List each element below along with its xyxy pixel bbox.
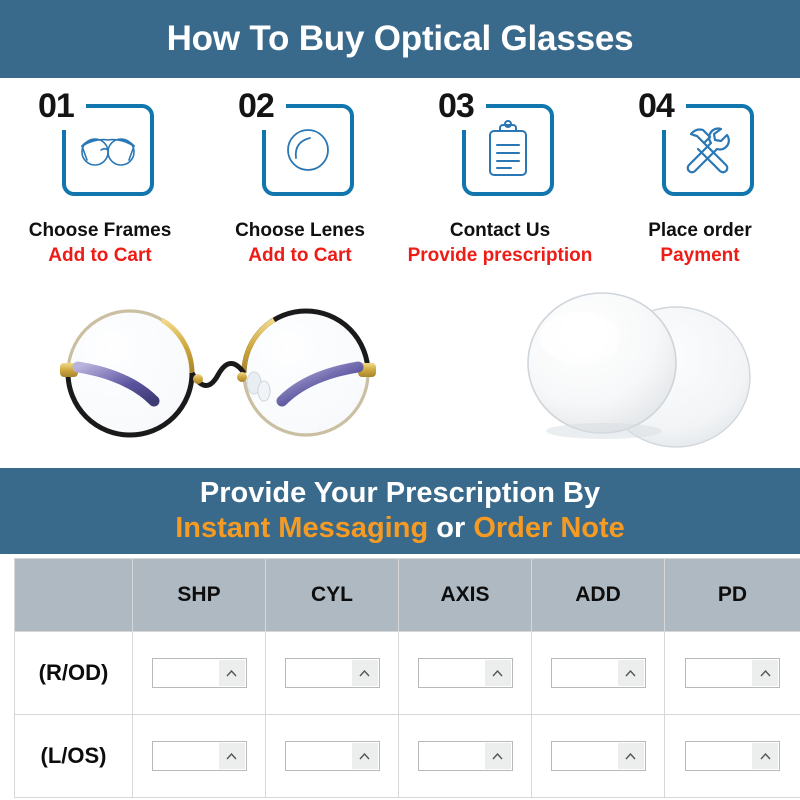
step-number-04: 04: [636, 88, 676, 124]
prescription-table-container: SHP CYL AXIS ADD PD (R/OD): [14, 558, 800, 800]
cell-right-axis[interactable]: [399, 632, 532, 715]
chevron-up-icon[interactable]: [352, 660, 378, 686]
step-number-02: 02: [236, 88, 276, 124]
column-header-pd: PD: [665, 559, 800, 632]
chevron-up-icon[interactable]: [618, 660, 644, 686]
step-number-03: 03: [436, 88, 476, 124]
column-header-cyl: CYL: [266, 559, 399, 632]
prescription-method-instant-messaging: Instant Messaging: [175, 512, 428, 544]
prescription-banner-joiner: or: [428, 512, 473, 544]
cell-right-cyl[interactable]: [266, 632, 399, 715]
select-right-cyl[interactable]: [285, 658, 380, 688]
step-subtitle-01: Add to Cart: [29, 245, 172, 267]
select-right-shp[interactable]: [152, 658, 247, 688]
cell-left-cyl[interactable]: [266, 715, 399, 798]
step-subtitle-03: Provide prescription: [408, 245, 593, 267]
column-header-axis: AXIS: [399, 559, 532, 632]
prescription-table: SHP CYL AXIS ADD PD (R/OD): [14, 558, 800, 798]
chevron-up-icon[interactable]: [352, 743, 378, 769]
step-title-01: Choose Frames: [29, 220, 172, 242]
step-subtitle-02: Add to Cart: [235, 245, 365, 267]
prescription-banner-line1: Provide Your Prescription By: [200, 476, 600, 510]
select-left-shp[interactable]: [152, 741, 247, 771]
prescription-method-order-note: Order Note: [473, 512, 624, 544]
cell-right-pd[interactable]: [665, 632, 800, 715]
select-left-axis[interactable]: [418, 741, 513, 771]
steps-row: 01 Choose Frames Add to Cart: [0, 78, 800, 283]
page-title: How To Buy Optical Glasses: [167, 19, 634, 59]
cell-right-shp[interactable]: [133, 632, 266, 715]
select-right-axis[interactable]: [418, 658, 513, 688]
column-header-add: ADD: [532, 559, 665, 632]
step-title-02: Choose Lenes: [235, 220, 365, 242]
select-right-add[interactable]: [551, 658, 646, 688]
prescription-table-body: (R/OD): [15, 632, 800, 798]
step-number-01: 01: [36, 88, 76, 124]
cell-left-axis[interactable]: [399, 715, 532, 798]
step-labels-03: Contact Us Provide prescription: [408, 220, 593, 267]
cell-left-shp[interactable]: [133, 715, 266, 798]
prescription-banner: Provide Your Prescription By Instant Mes…: [0, 468, 800, 554]
step-labels-02: Choose Lenes Add to Cart: [235, 220, 365, 267]
row-label-right-eye: (R/OD): [15, 632, 133, 715]
select-right-pd[interactable]: [685, 658, 780, 688]
select-left-pd[interactable]: [685, 741, 780, 771]
cell-right-add[interactable]: [532, 632, 665, 715]
product-imagery-row: +: [0, 283, 800, 468]
column-header-shp: SHP: [133, 559, 266, 632]
optical-lenses-product-image: [480, 285, 790, 463]
table-header-row: SHP CYL AXIS ADD PD: [15, 559, 800, 632]
step-labels-01: Choose Frames Add to Cart: [29, 220, 172, 267]
cell-left-pd[interactable]: [665, 715, 800, 798]
chevron-up-icon[interactable]: [219, 743, 245, 769]
chevron-up-icon[interactable]: [485, 660, 511, 686]
chevron-up-icon[interactable]: [752, 660, 778, 686]
prescription-banner-line2: Instant Messaging or Order Note: [175, 510, 625, 546]
step-graphic-01: 01: [34, 90, 166, 210]
eyeglasses-product-image: [18, 291, 418, 457]
step-item-04: 04 Place order Payment: [600, 78, 800, 283]
step-graphic-03: 03: [434, 90, 566, 210]
chevron-up-icon[interactable]: [219, 660, 245, 686]
step-graphic-04: 04: [634, 90, 766, 210]
step-subtitle-04: Payment: [648, 245, 752, 267]
chevron-up-icon[interactable]: [618, 743, 644, 769]
step-item-03: 03 Contact Us Provide prescription: [400, 78, 600, 283]
select-left-add[interactable]: [551, 741, 646, 771]
step-graphic-02: 02: [234, 90, 366, 210]
select-left-cyl[interactable]: [285, 741, 380, 771]
prescription-table-head: SHP CYL AXIS ADD PD: [15, 559, 800, 632]
step-labels-04: Place order Payment: [648, 220, 752, 267]
row-label-left-eye: (L/OS): [15, 715, 133, 798]
step-item-02: 02 Choose Lenes Add to Cart: [200, 78, 400, 283]
chevron-up-icon[interactable]: [485, 743, 511, 769]
step-item-01: 01 Choose Frames Add to Cart: [0, 78, 200, 283]
page-header-banner: How To Buy Optical Glasses: [0, 0, 800, 78]
chevron-up-icon[interactable]: [752, 743, 778, 769]
cell-left-add[interactable]: [532, 715, 665, 798]
table-row: (R/OD): [15, 632, 800, 715]
table-row: (L/OS): [15, 715, 800, 798]
step-title-03: Contact Us: [408, 220, 593, 242]
table-corner-cell: [15, 559, 133, 632]
step-title-04: Place order: [648, 220, 752, 242]
